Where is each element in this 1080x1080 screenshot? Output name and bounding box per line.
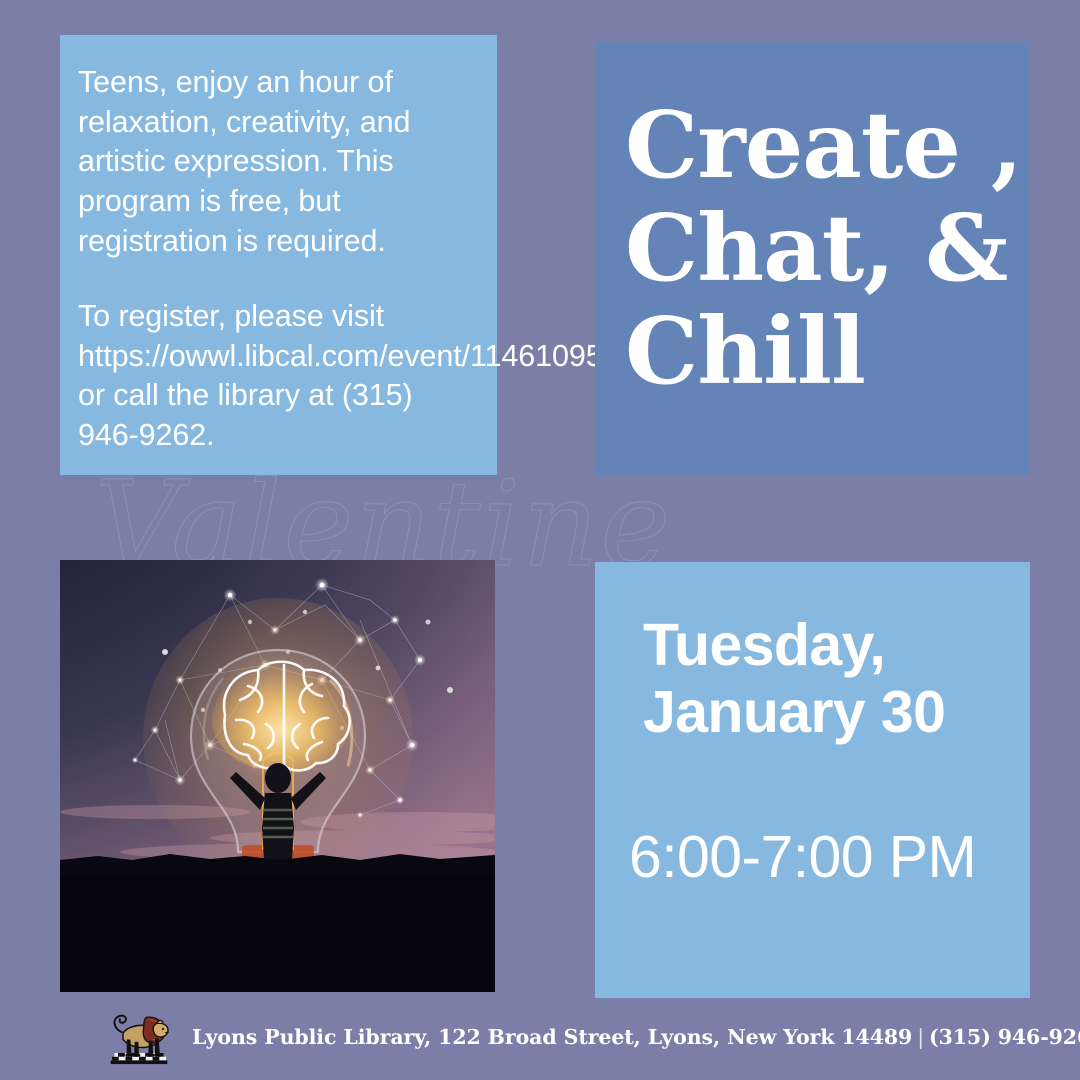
lion-logo-icon — [108, 1005, 170, 1069]
description-paragraph-1: Teens, enjoy an hour of relaxation, crea… — [78, 63, 467, 261]
event-date-line-1: Tuesday, — [643, 612, 1008, 679]
footer-phone: (315) 946-9262 — [929, 1025, 1080, 1049]
title-line-3: Chill — [625, 300, 1010, 403]
date-time-panel: Tuesday, January 30 6:00-7:00 PM — [595, 562, 1030, 998]
lightbulb-brain-photo — [60, 560, 495, 992]
title-panel: Create , Chat, & Chill — [595, 42, 1030, 475]
title-line-1: Create , — [625, 94, 1010, 197]
event-time: 6:00-7:00 PM — [629, 825, 1008, 890]
title-line-2: Chat, & — [625, 197, 1010, 300]
event-flyer: Valentine Teens, enjoy an hour of relaxa… — [0, 0, 1080, 1080]
footer-library-info: Lyons Public Library, 122 Broad Street, … — [192, 1025, 1080, 1049]
lightbulb-brain-illustration — [60, 560, 495, 992]
footer-library-name-address: Lyons Public Library, 122 Broad Street, … — [192, 1025, 912, 1049]
footer: Lyons Public Library, 122 Broad Street, … — [0, 994, 1080, 1080]
description-panel: Teens, enjoy an hour of relaxation, crea… — [60, 35, 497, 475]
description-paragraph-2: To register, please visit https://owwl.l… — [78, 297, 467, 456]
footer-separator-1: | — [912, 1025, 929, 1049]
event-date-line-2: January 30 — [643, 679, 1008, 746]
